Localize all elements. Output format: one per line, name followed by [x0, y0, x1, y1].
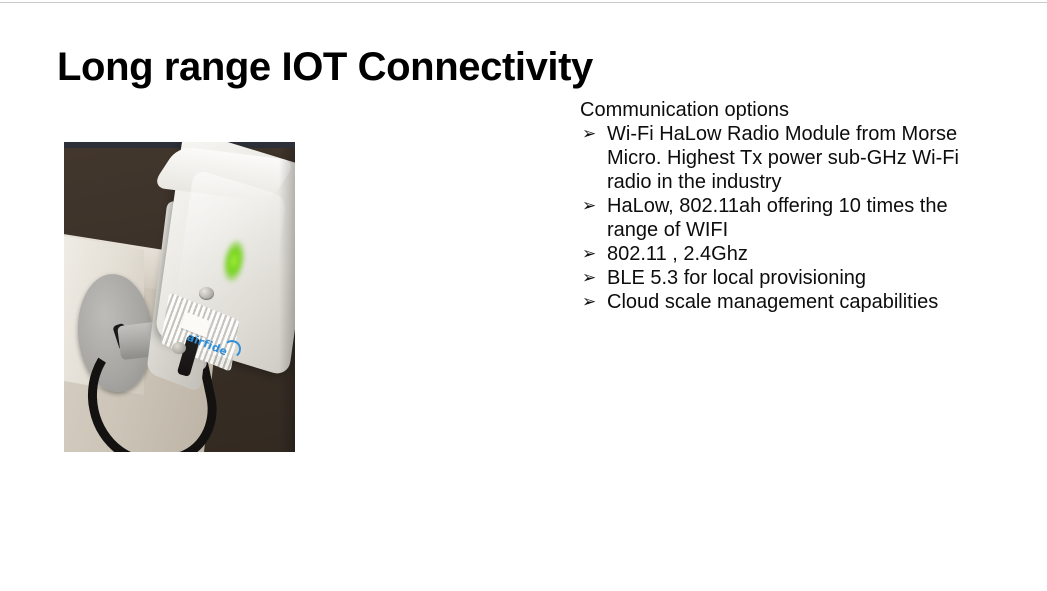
bullet-item: ➢802.11 , 2.4Ghz: [580, 242, 980, 266]
bullet-arrow-icon: ➢: [582, 266, 596, 290]
slide: Long range IOT Connectivity airfide: [0, 0, 1047, 591]
bullet-arrow-icon: ➢: [582, 242, 596, 266]
product-photo: airfide: [64, 142, 295, 452]
photo-edge-shading: [279, 148, 295, 452]
bullet-arrow-icon: ➢: [582, 194, 596, 218]
bullet-item: ➢BLE 5.3 for local provisioning: [580, 266, 980, 290]
photo-bracket-screw: [199, 287, 214, 300]
content-block: Communication options ➢Wi-Fi HaLow Radio…: [580, 98, 980, 314]
product-photo-canvas: airfide: [64, 142, 295, 452]
bullet-text: BLE 5.3 for local provisioning: [607, 267, 866, 289]
bullet-text: 802.11 , 2.4Ghz: [607, 243, 748, 265]
page-title: Long range IOT Connectivity: [57, 43, 593, 91]
photo-bracket-screw-secondary: [172, 342, 186, 354]
bullet-item: ➢HaLow, 802.11ah offering 10 times the r…: [580, 194, 980, 242]
top-divider-rule: [0, 2, 1047, 3]
bullet-arrow-icon: ➢: [582, 122, 596, 146]
bullet-text: HaLow, 802.11ah offering 10 times the ra…: [607, 195, 948, 241]
bullet-arrow-icon: ➢: [582, 290, 596, 314]
bullet-item: ➢Cloud scale management capabilities: [580, 290, 980, 314]
bullet-text: Cloud scale management capabilities: [607, 291, 938, 313]
bullet-item: ➢Wi-Fi HaLow Radio Module from Morse Mic…: [580, 122, 980, 194]
bullet-text: Wi-Fi HaLow Radio Module from Morse Micr…: [607, 123, 959, 193]
content-heading: Communication options: [580, 98, 980, 122]
bullet-list: ➢Wi-Fi HaLow Radio Module from Morse Mic…: [580, 122, 980, 314]
